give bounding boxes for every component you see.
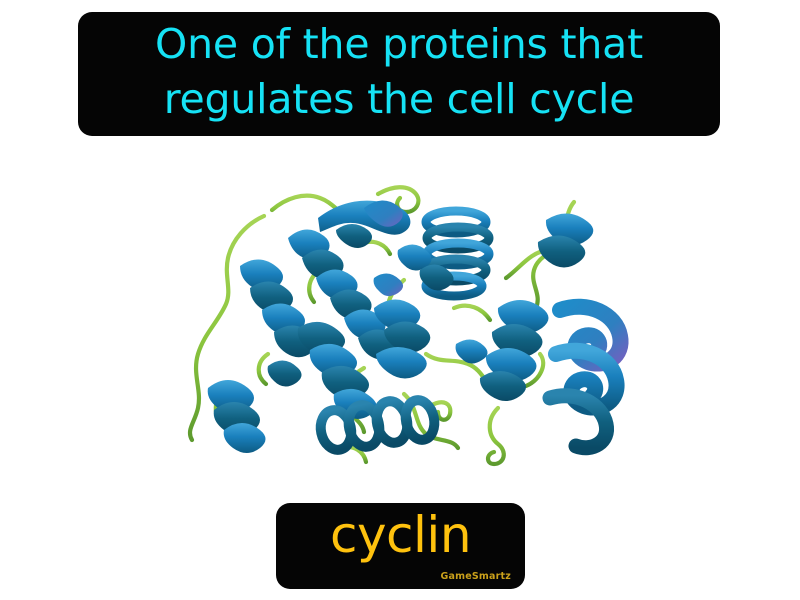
protein-ribbon-image <box>168 158 648 488</box>
definition-line-1: One of the proteins that <box>155 17 643 72</box>
gamesmartz-watermark: GameSmartz <box>441 571 511 582</box>
definition-panel: One of the proteins that regulates the c… <box>78 12 720 136</box>
protein-ribbon-svg <box>168 158 648 488</box>
term-panel: cyclin GameSmartz <box>276 503 525 589</box>
term-label: cyclin <box>276 509 525 562</box>
definition-line-2: regulates the cell cycle <box>164 72 634 127</box>
